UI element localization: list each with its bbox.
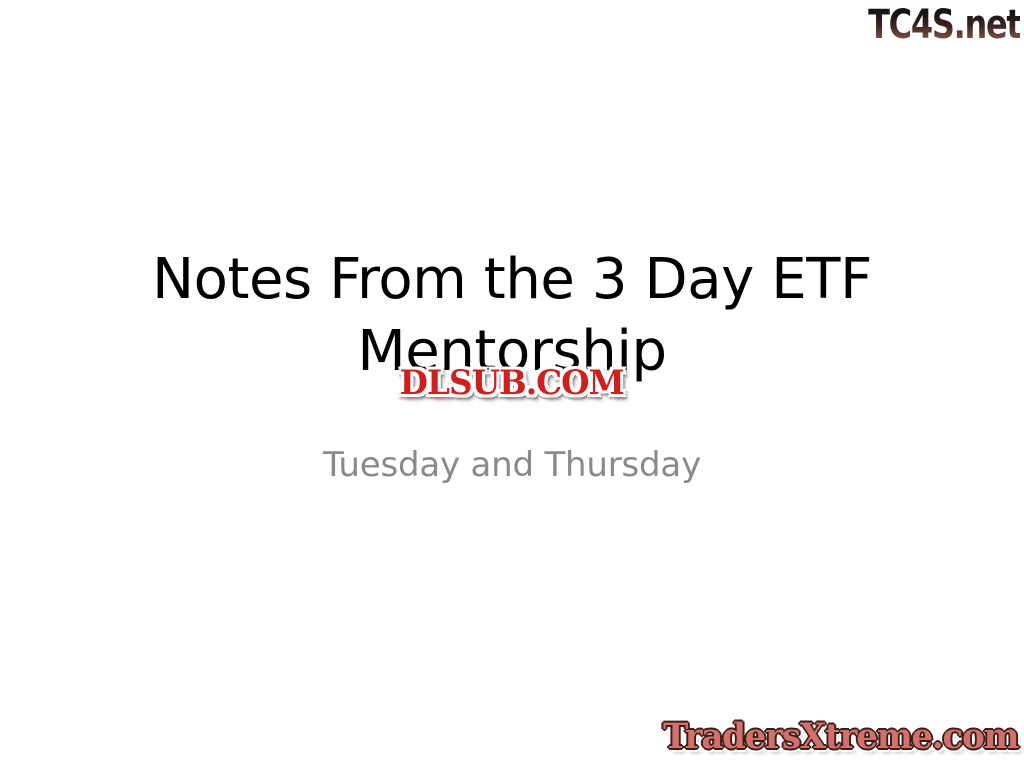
tradersxtreme-watermark-text: TradersXtreme.com	[663, 719, 1018, 754]
tc4s-watermark-logo: TC4S.net	[832, 2, 1020, 48]
slide-title-line-1: Notes From the 3 Day ETF	[150, 244, 874, 316]
dlsub-watermark-logo: DLSUB.COM	[366, 362, 658, 404]
slide-subtitle: Tuesday and Thursday	[150, 443, 874, 487]
tradersxtreme-watermark-logo: TradersXtreme.com	[688, 712, 1018, 760]
tc4s-watermark-text: TC4S.net	[868, 5, 1020, 45]
dlsub-watermark-text: DLSUB.COM	[400, 366, 624, 400]
presentation-slide: TC4S.net Notes From the 3 Day ETF Mentor…	[0, 0, 1024, 768]
